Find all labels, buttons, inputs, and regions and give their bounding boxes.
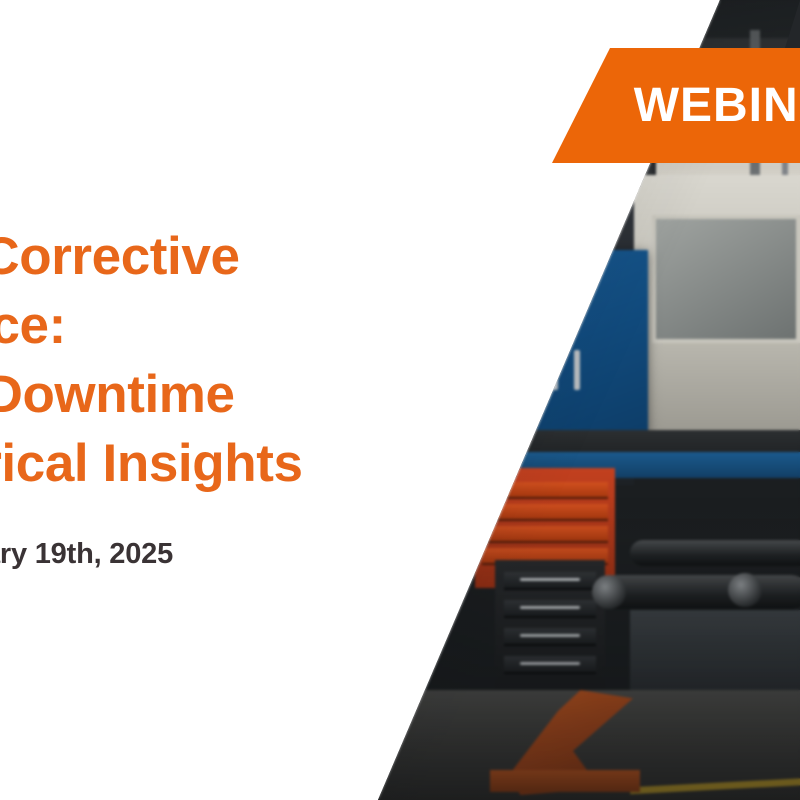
slide-canvas: WEBINAR Proactive Corrective Maintenance…: [0, 0, 800, 800]
title-line-3: Reducing Downtime: [0, 360, 552, 429]
webinar-banner: WEBINAR: [552, 48, 800, 163]
timezone-list: 11 am Eastern (EDT) 8 am Pacific (PDT) 5…: [0, 608, 552, 704]
title-line-1: Proactive Corrective: [0, 222, 552, 291]
content-block: Proactive Corrective Maintenance: Reduci…: [0, 0, 560, 800]
webinar-banner-label: WEBINAR: [634, 78, 800, 133]
timezone-item-european: 5 pm European (CET): [0, 672, 552, 704]
timezone-item-eastern: 11 am Eastern (EDT): [0, 608, 552, 640]
event-date: Wednesday, February 19th, 2025: [0, 538, 552, 571]
title-line-4: with Historical Insights: [0, 429, 552, 498]
title-line-2: Maintenance:: [0, 291, 552, 360]
page-title: Proactive Corrective Maintenance: Reduci…: [0, 222, 552, 498]
timezone-item-pacific: 8 am Pacific (PDT): [0, 640, 552, 672]
